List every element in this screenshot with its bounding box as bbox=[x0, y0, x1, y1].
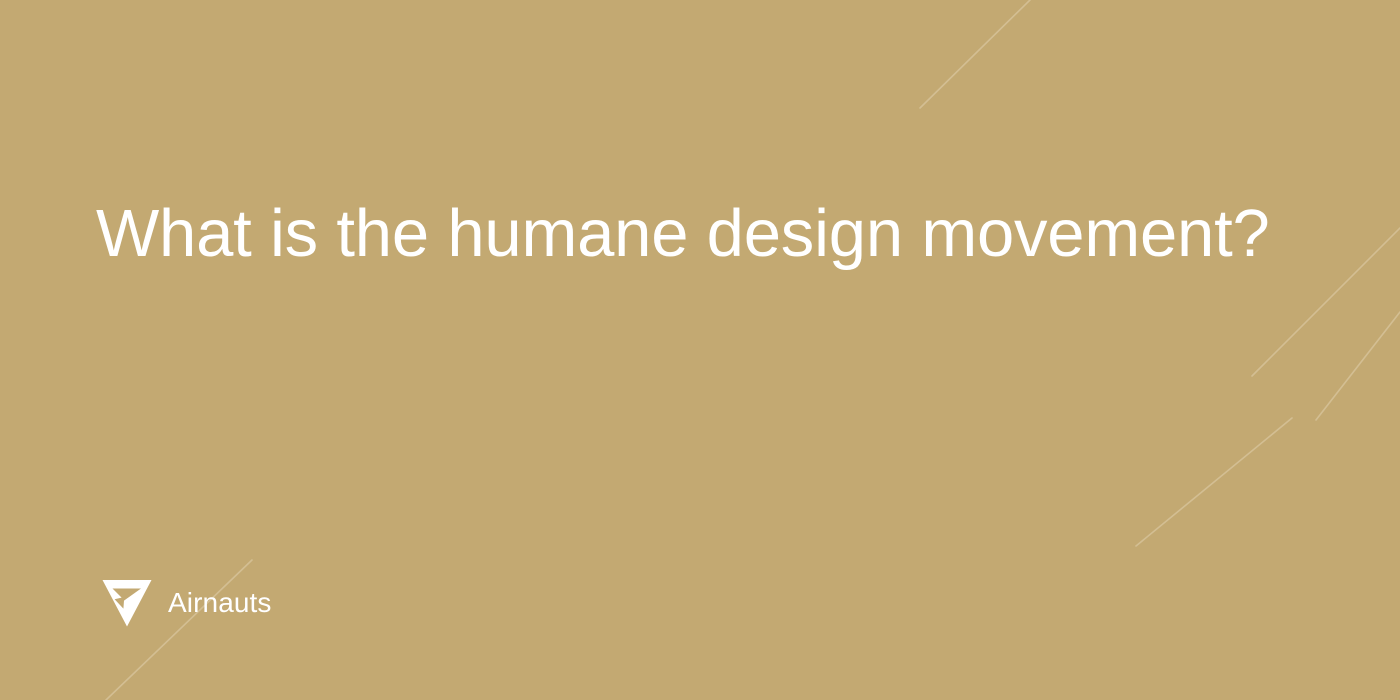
diagonal-line-top-right bbox=[920, 0, 1030, 108]
slide-headline: What is the humane design movement? bbox=[96, 196, 1336, 271]
diagonal-line-right-lower bbox=[1316, 312, 1400, 420]
airnauts-inverted-triangle-icon bbox=[101, 578, 153, 628]
slide-canvas: What is the humane design movement? Airn… bbox=[0, 0, 1400, 700]
brand-wordmark: Airnauts bbox=[168, 589, 272, 617]
brand-logo-lockup: Airnauts bbox=[101, 578, 272, 628]
diagonal-line-bottom-right bbox=[1136, 418, 1292, 546]
